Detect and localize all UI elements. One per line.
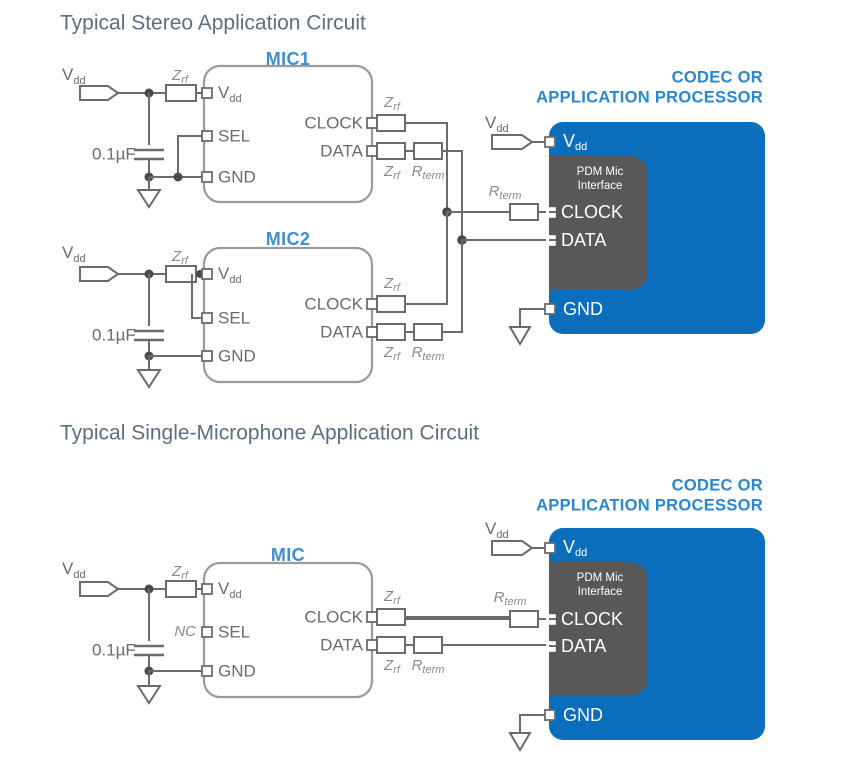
codec-label-line2-single: APPLICATION PROCESSOR (536, 496, 763, 514)
zrf-label-mic2-supply: Zrf (171, 248, 189, 267)
supply-label-mic1: Vdd (62, 65, 86, 86)
mic2-pin-label-sel: SEL (218, 308, 250, 327)
mic2-pin-label-data: DATA (320, 322, 363, 341)
zrf-label-mic1-clock: Zrf (383, 94, 401, 113)
vdd-flag-icon-mic2 (80, 267, 118, 281)
codec-pin-label-clock-stereo: CLOCK (561, 202, 623, 222)
resistor-icon-mic2-clock-zrf (377, 296, 405, 312)
zrf-label-mic2-clock: Zrf (383, 275, 401, 294)
mic2-pin-data[interactable] (367, 327, 377, 337)
vdd-flag-icon-codec-stereo (492, 135, 532, 149)
mic1-pin-vdd[interactable] (202, 88, 212, 98)
mic1-pin-label-gnd: GND (218, 167, 256, 186)
supply-label-single-mic: Vdd (62, 559, 86, 580)
cap-value-single: 0.1µF (92, 640, 136, 659)
mic2-pin-label-clock: CLOCK (304, 294, 363, 313)
mic-label-mic2: MIC2 (266, 229, 311, 249)
resistor-icon-single-clock-zrf (377, 609, 405, 625)
vdd-flag-icon-single-mic (80, 582, 118, 596)
zrf-label-single-clock: Zrf (383, 588, 401, 607)
zrf-label-mic1-supply: Zrf (171, 67, 189, 86)
resistor-icon-mic1-data-zrf (377, 143, 405, 159)
sel-nc-note-single: NC (174, 623, 196, 640)
mic2-pin-vdd[interactable] (202, 269, 212, 279)
ground-triangle-icon-mic1 (138, 190, 160, 207)
mic2-pin-clock[interactable] (367, 299, 377, 309)
cap-value-mic1: 0.1µF (92, 144, 136, 163)
rterm-label-codec-clock-stereo: Rterm (489, 183, 522, 202)
resistor-icon-single-data-rterm (414, 637, 442, 653)
rterm-label-mic1-data: Rterm (412, 163, 445, 182)
pdm-block-line2-stereo: Interface (578, 180, 623, 192)
pdm-block-line1-stereo: PDM Mic (577, 166, 624, 178)
supply-label-mic2: Vdd (62, 243, 86, 264)
codec-pin-vdd-stereo[interactable] (545, 137, 555, 147)
ground-triangle-icon-codec-single (510, 733, 530, 750)
mic1-pin-label-data: DATA (320, 141, 363, 160)
codec-label-line2-stereo: APPLICATION PROCESSOR (536, 88, 763, 106)
zrf-label-single-supply: Zrf (171, 563, 189, 582)
single-pin-sel[interactable] (202, 627, 212, 637)
diagram-canvas: Typical Stereo Application Circuit CODEC… (0, 0, 860, 764)
pdm-block-line2-single: Interface (578, 586, 623, 598)
section-title-single: Typical Single-Microphone Application Ci… (60, 422, 479, 445)
codec-supply-label-single: Vdd (485, 519, 509, 540)
codec-pin-gnd-stereo[interactable] (545, 304, 555, 314)
codec-pin-gnd-single[interactable] (545, 710, 555, 720)
mic1-pin-label-sel: SEL (218, 126, 250, 145)
mic1-pin-data[interactable] (367, 146, 377, 156)
resistor-icon-codec-clock-stereo (510, 204, 538, 220)
codec-label-line1-single: CODEC OR (672, 476, 763, 494)
mic1-pin-sel[interactable] (202, 131, 212, 141)
rterm-label-codec-clock-single: Rterm (494, 589, 527, 608)
resistor-icon-mic1-data-rterm (414, 143, 442, 159)
resistor-icon-single-supply (166, 581, 196, 597)
codec-pin-label-gnd-stereo: GND (563, 299, 603, 319)
vdd-flag-icon-mic1 (80, 86, 118, 100)
single-pin-label-gnd: GND (218, 661, 256, 680)
codec-pin-label-gnd-single: GND (563, 705, 603, 725)
cap-value-mic2: 0.1µF (92, 325, 136, 344)
rterm-label-single-data: Rterm (412, 657, 445, 676)
zrf-label-mic1-data: Zrf (383, 163, 401, 182)
single-pin-gnd[interactable] (202, 666, 212, 676)
resistor-icon-mic2-data-rterm (414, 324, 442, 340)
resistor-icon-codec-clock-single (510, 611, 538, 627)
single-pin-clock[interactable] (367, 612, 377, 622)
single-pin-label-data: DATA (320, 635, 363, 654)
codec-pin-label-data-single: DATA (561, 636, 606, 656)
single-pin-vdd[interactable] (202, 584, 212, 594)
single-pin-label-clock: CLOCK (304, 607, 363, 626)
mic1-pin-label-clock: CLOCK (304, 113, 363, 132)
mic2-pin-label-gnd: GND (218, 346, 256, 365)
resistor-icon-mic2-data-zrf (377, 324, 405, 340)
mic1-pin-gnd[interactable] (202, 172, 212, 182)
single-pin-label-sel: SEL (218, 622, 250, 641)
ground-triangle-icon-mic2 (138, 370, 160, 387)
single-pin-data[interactable] (367, 640, 377, 650)
codec-pin-label-data-stereo: DATA (561, 230, 606, 250)
junction-dot-icon-mic1-sel (174, 173, 183, 182)
codec-pin-label-clock-single: CLOCK (561, 609, 623, 629)
mic1-pin-clock[interactable] (367, 118, 377, 128)
zrf-label-mic2-data: Zrf (383, 344, 401, 363)
vdd-flag-icon-codec-single (492, 541, 532, 555)
resistor-icon-single-data-zrf (377, 637, 405, 653)
codec-pin-vdd-single[interactable] (545, 543, 555, 553)
rterm-label-mic2-data: Rterm (412, 344, 445, 363)
mic-label-single: MIC (271, 545, 305, 565)
pdm-block-line1-single: PDM Mic (577, 572, 624, 584)
mic2-pin-gnd[interactable] (202, 351, 212, 361)
codec-label-line1-stereo: CODEC OR (672, 68, 763, 86)
ground-triangle-icon-codec-stereo (510, 327, 530, 344)
resistor-icon-mic1-supply (166, 85, 196, 101)
zrf-label-single-data: Zrf (383, 657, 401, 676)
ground-triangle-icon-single-mic (138, 686, 160, 703)
mic2-pin-sel[interactable] (202, 313, 212, 323)
codec-supply-label-stereo: Vdd (485, 113, 509, 134)
section-title-stereo: Typical Stereo Application Circuit (60, 12, 366, 35)
resistor-icon-mic1-clock-zrf (377, 115, 405, 131)
